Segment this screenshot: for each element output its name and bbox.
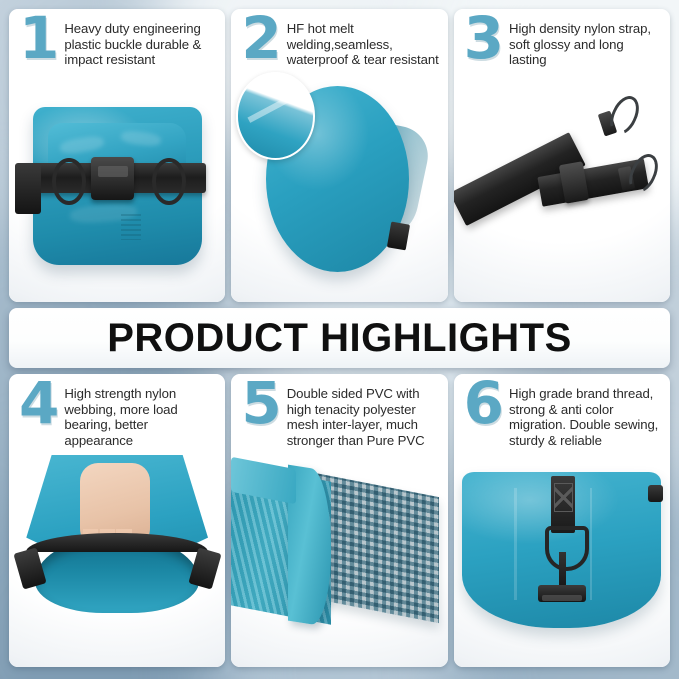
- side-attachment-tab: [648, 485, 663, 502]
- feature-4-text: High strength nylon webbing, more load b…: [64, 384, 216, 448]
- webbing-clip-left: [13, 547, 46, 589]
- features-row-bottom: 4 High strength nylon webbing, more load…: [9, 374, 670, 667]
- d-ring-icon: [545, 526, 590, 571]
- bag-black-tab: [387, 222, 411, 251]
- strap-clip: [15, 163, 41, 214]
- plastic-buckle: [91, 157, 134, 200]
- polyester-mesh-layer: [314, 473, 439, 623]
- feature-card-4[interactable]: 4 High strength nylon webbing, more load…: [9, 374, 225, 667]
- feature-2-photo: [231, 70, 447, 302]
- banner-title: PRODUCT HIGHLIGHTS: [107, 316, 572, 361]
- feature-6-photo: [454, 450, 670, 667]
- feature-3-text: High density nylon strap, soft glossy an…: [509, 19, 661, 68]
- product-highlights-banner: PRODUCT HIGHLIGHTS: [9, 308, 670, 368]
- feature-3-number: 3: [464, 15, 502, 63]
- feature-3-header: 3 High density nylon strap, soft glossy …: [454, 9, 670, 70]
- magnifier-loupe-icon: [236, 72, 316, 160]
- bag-texture-lines: [121, 214, 141, 239]
- swivel-base-bar: [538, 585, 586, 602]
- feature-3-photo: [454, 70, 670, 302]
- feature-1-number: 1: [19, 15, 57, 63]
- feature-5-header: 5 Double sided PVC with high tenacity po…: [231, 374, 447, 450]
- feature-1-photo: [9, 70, 225, 302]
- feature-2-text: HF hot melt welding,seamless, waterproof…: [287, 19, 439, 68]
- feature-card-2[interactable]: 2 HF hot melt welding,seamless, waterpro…: [231, 9, 447, 302]
- feature-4-number: 4: [19, 380, 57, 428]
- highlights-layout: 1 Heavy duty engineering plastic buckle …: [0, 0, 679, 679]
- feature-1-text: Heavy duty engineering plastic buckle du…: [64, 19, 216, 68]
- webbing-clip-right: [188, 547, 221, 589]
- box-stitched-webbing: [551, 476, 575, 532]
- feature-5-photo: [231, 450, 447, 667]
- features-row-top: 1 Heavy duty engineering plastic buckle …: [9, 9, 670, 302]
- feature-6-number: 6: [464, 380, 502, 428]
- feature-4-header: 4 High strength nylon webbing, more load…: [9, 374, 225, 450]
- feature-card-6[interactable]: 6 High grade brand thread, strong & anti…: [454, 374, 670, 667]
- feature-card-1[interactable]: 1 Heavy duty engineering plastic buckle …: [9, 9, 225, 302]
- feature-card-5[interactable]: 5 Double sided PVC with high tenacity po…: [231, 374, 447, 667]
- feature-1-header: 1 Heavy duty engineering plastic buckle …: [9, 9, 225, 70]
- feature-5-text: Double sided PVC with high tenacity poly…: [287, 384, 439, 448]
- feature-2-header: 2 HF hot melt welding,seamless, waterpro…: [231, 9, 447, 70]
- feature-5-number: 5: [241, 380, 279, 428]
- feature-6-header: 6 High grade brand thread, strong & anti…: [454, 374, 670, 450]
- d-ring-right-icon: [152, 158, 186, 205]
- feature-6-text: High grade brand thread, strong & anti c…: [509, 384, 661, 448]
- feature-4-photo: [9, 450, 225, 667]
- feature-card-3[interactable]: 3 High density nylon strap, soft glossy …: [454, 9, 670, 302]
- feature-2-number: 2: [241, 15, 279, 63]
